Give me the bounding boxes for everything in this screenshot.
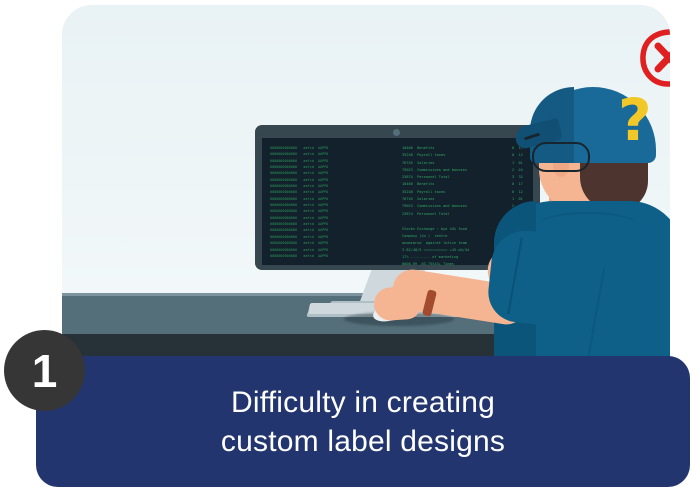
- terminal-binary-column: 0000000000000 aafcd AAPPO0000000000000 a…: [270, 145, 390, 259]
- terminal-footer-row: Company (4u ) centre: [402, 233, 469, 240]
- terminal-ledger-labels: 10460 Benefits35248 Payroll taxes76745 S…: [402, 145, 467, 218]
- terminal-footer-row: 3.82/48/5 =========== +45.u0/44: [402, 247, 469, 254]
- terminal-output: 0000000000000 aafcd AAPPO0000000000000 a…: [262, 138, 533, 265]
- terminal-ledger-values: 0 12: [512, 152, 523, 159]
- glasses-icon: [532, 142, 590, 172]
- terminal-ledger-values: 1 01: [512, 160, 523, 167]
- terminal-footer-row: Stocks Exchange : bye 44% food: [402, 226, 469, 233]
- caption-line-1: Difficulty in creating: [231, 383, 495, 422]
- terminal-ledger-values: 2 44: [512, 167, 523, 174]
- terminal-binary-row: 0000000000000 aafcd AAPPO: [270, 253, 390, 259]
- terminal-ledger-row: 10460 Benefits: [402, 145, 467, 152]
- terminal-ledger-row: 79023 Commissions and bonuses: [402, 167, 467, 174]
- hand-on-mouse: [373, 285, 421, 321]
- terminal-ledger-row: 10460 Benefits: [402, 181, 467, 188]
- question-mark-icon: ?: [618, 91, 652, 149]
- caption-line-2: custom label designs: [221, 422, 505, 461]
- terminal-ledger-values: 1 01: [512, 196, 523, 203]
- terminal-footer-row: anomimrud against lotice team: [402, 240, 469, 247]
- circled-x-icon: [638, 27, 670, 89]
- monitor-screen: 0000000000000 aafcd AAPPO0000000000000 a…: [262, 138, 533, 265]
- caption-banner: Difficulty in creating custom label desi…: [36, 356, 690, 487]
- webcam-icon: [393, 129, 400, 136]
- terminal-ledger-values: 0 17: [512, 181, 523, 188]
- terminal-ledger-row: 23874 Personnel Total: [402, 174, 467, 181]
- terminal-footer-row: 17% --------- of marketing: [402, 254, 469, 261]
- terminal-footer-lines: Stocks Exchange : bye 44% foodCompany (4…: [402, 226, 469, 265]
- caption-text: Difficulty in creating custom label desi…: [36, 356, 690, 487]
- terminal-ledger-row: 76745 Salaries: [402, 196, 467, 203]
- terminal-ledger-row: 35248 Payroll taxes: [402, 152, 467, 159]
- terminal-ledger-values: 3 32: [512, 174, 523, 181]
- terminal-footer-row: 0008.09 -03.75543+ Times: [402, 261, 469, 265]
- terminal-ledger-row: 76745 Salaries: [402, 160, 467, 167]
- step-number-badge: 1: [4, 330, 85, 411]
- terminal-ledger-row: 23874 Personnel Total: [402, 211, 467, 218]
- terminal-ledger-row: 79023 Commissions and bonuses: [402, 203, 467, 210]
- infographic-card: 0000000000000 aafcd AAPPO0000000000000 a…: [0, 0, 700, 493]
- illustration-panel: 0000000000000 aafcd AAPPO0000000000000 a…: [62, 5, 670, 360]
- terminal-ledger-values: 0 12: [512, 189, 523, 196]
- step-number-label: 1: [32, 348, 58, 394]
- terminal-ledger-row: 35248 Payroll taxes: [402, 189, 467, 196]
